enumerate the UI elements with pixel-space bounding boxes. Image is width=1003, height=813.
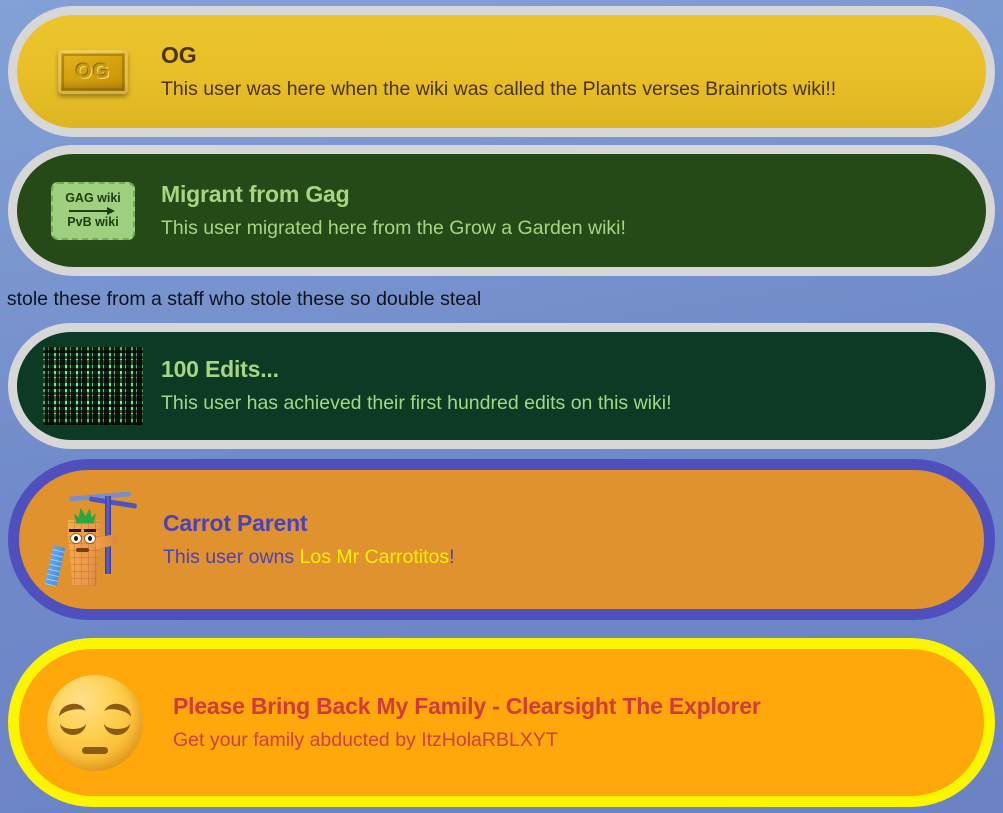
badge-body: Please Bring Back My Family - Clearsight… — [8, 638, 995, 807]
badge-body: GAG wiki PvB wiki Migrant from Gag This … — [8, 145, 995, 276]
badge-title: OG — [161, 43, 972, 68]
matrix-code-rain-icon — [39, 340, 147, 432]
badge-card-please-bring-back-my-family[interactable]: Please Bring Back My Family - Clearsight… — [8, 638, 995, 807]
badge-card-og[interactable]: OG OG This user was here when the wiki w… — [8, 6, 995, 137]
og-gold-plaque-icon: OG — [39, 26, 147, 118]
badge-title: Migrant from Gag — [161, 182, 972, 207]
badge-card-migrant-from-gag[interactable]: GAG wiki PvB wiki Migrant from Gag This … — [8, 145, 995, 276]
steal-note-caption: I stole these from a staff who stole the… — [0, 288, 481, 311]
badge-text: Migrant from Gag This user migrated here… — [161, 182, 972, 240]
arrow-right-icon — [69, 206, 117, 215]
badge-title: 100 Edits... — [161, 357, 972, 382]
badge-text: 100 Edits... This user has achieved thei… — [161, 357, 972, 415]
badge-description: This user has achieved their first hundr… — [161, 392, 972, 414]
ticket-label-top: GAG wiki — [65, 192, 121, 205]
description-prefix: This user owns — [163, 546, 300, 568]
badge-showcase-page: { "page": { "background_top": "#83a1d6",… — [0, 0, 1003, 813]
gag-to-pvb-ticket-icon: GAG wiki PvB wiki — [39, 165, 147, 257]
badge-body: Carrot Parent This user owns Los Mr Carr… — [8, 459, 995, 620]
carrotitos-link[interactable]: Los Mr Carrotitos — [300, 546, 450, 568]
pensive-face-emoji-icon — [39, 673, 151, 773]
ticket-label-bottom: PvB wiki — [67, 216, 118, 229]
badge-title: Carrot Parent — [163, 511, 970, 536]
badge-body: OG OG This user was here when the wiki w… — [8, 6, 995, 137]
badge-text: Please Bring Back My Family - Clearsight… — [173, 694, 970, 752]
badge-description: Get your family abducted by ItzHolaRBLXY… — [173, 729, 970, 751]
badge-card-carrot-parent[interactable]: Carrot Parent This user owns Los Mr Carr… — [8, 459, 995, 620]
badge-description: This user owns Los Mr Carrotitos! — [163, 546, 970, 568]
badge-text: Carrot Parent This user owns Los Mr Carr… — [163, 511, 970, 569]
og-plaque-label: OG — [76, 60, 111, 84]
badge-description: This user migrated here from the Grow a … — [161, 217, 972, 239]
badge-title: Please Bring Back My Family - Clearsight… — [173, 694, 970, 719]
badge-text: OG This user was here when the wiki was … — [161, 43, 972, 101]
voxel-carrot-character-icon — [41, 484, 149, 596]
badge-card-100-edits[interactable]: 100 Edits... This user has achieved thei… — [8, 323, 995, 449]
badge-body: 100 Edits... This user has achieved thei… — [8, 323, 995, 449]
badge-description: This user was here when the wiki was cal… — [161, 78, 972, 100]
description-suffix: ! — [449, 546, 454, 568]
